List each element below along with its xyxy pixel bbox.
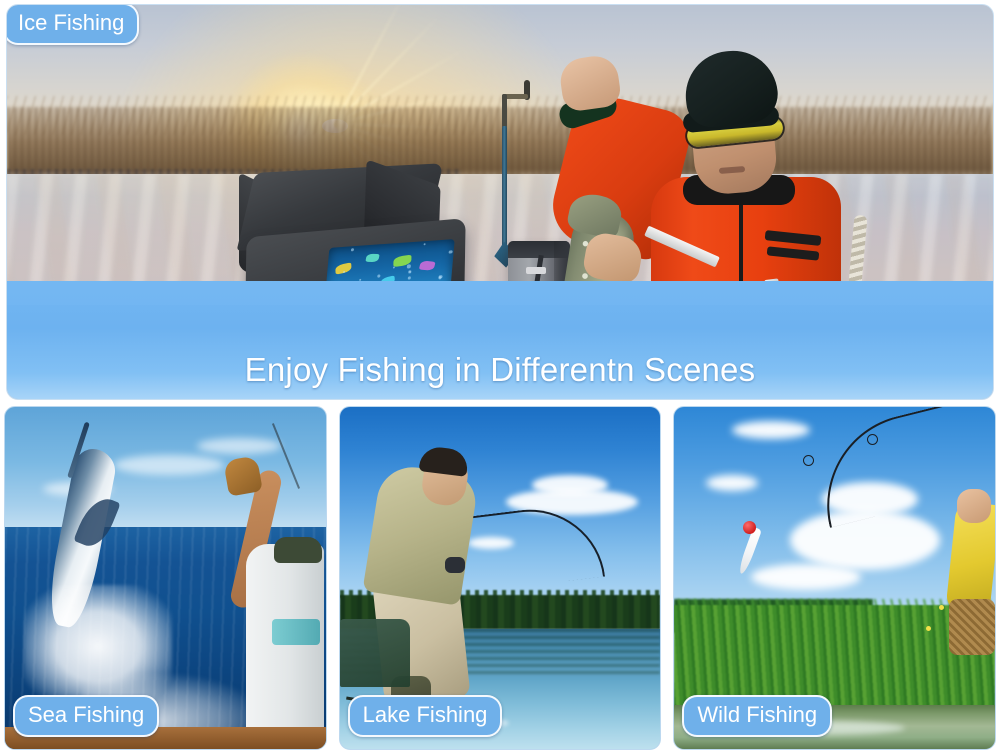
- blue-curved-band: Enjoy Fishing in Differentn Scenes: [7, 281, 993, 399]
- card-lake-fishing[interactable]: Lake Fishing: [339, 406, 662, 750]
- headline-text: Enjoy Fishing in Differentn Scenes: [7, 351, 993, 389]
- fishing-reel: [445, 557, 465, 573]
- cloud: [114, 455, 224, 475]
- wicker-basket: [949, 599, 995, 655]
- band-arc-mask: [7, 281, 993, 305]
- cloud: [732, 421, 810, 439]
- black-beanie: [681, 46, 780, 129]
- badge-ice-fishing: Ice Fishing: [6, 4, 139, 45]
- shirt-logo: [272, 619, 320, 645]
- fishing-scenes-poster: Enjoy Fishing in Differentn Scenes Ice F…: [0, 0, 1000, 750]
- scene-cards-row: Sea Fishing Lake Fishing: [0, 406, 1000, 750]
- auger-shaft: [502, 126, 507, 252]
- yellow-flower: [926, 626, 931, 631]
- badge-lake-fishing: Lake Fishing: [348, 695, 503, 737]
- auger-crank-post: [502, 94, 507, 128]
- angler-cap: [274, 537, 322, 563]
- badge-wild-fishing: Wild Fishing: [682, 695, 832, 737]
- card-sea-fishing[interactable]: Sea Fishing: [4, 406, 327, 750]
- cloud: [197, 438, 281, 454]
- badge-sea-fishing: Sea Fishing: [13, 695, 159, 737]
- angler-white-shirt: [246, 544, 324, 749]
- card-wild-fishing[interactable]: Wild Fishing: [673, 406, 996, 750]
- folding-chair: [340, 619, 410, 687]
- raised-fist: [558, 53, 623, 113]
- rod-guide-icon: [803, 455, 814, 466]
- band-arc: [7, 281, 993, 305]
- angler-hand: [957, 489, 991, 523]
- bobber-red-tip: [743, 521, 756, 534]
- hero-panel-ice-fishing: Enjoy Fishing in Differentn Scenes Ice F…: [6, 4, 994, 400]
